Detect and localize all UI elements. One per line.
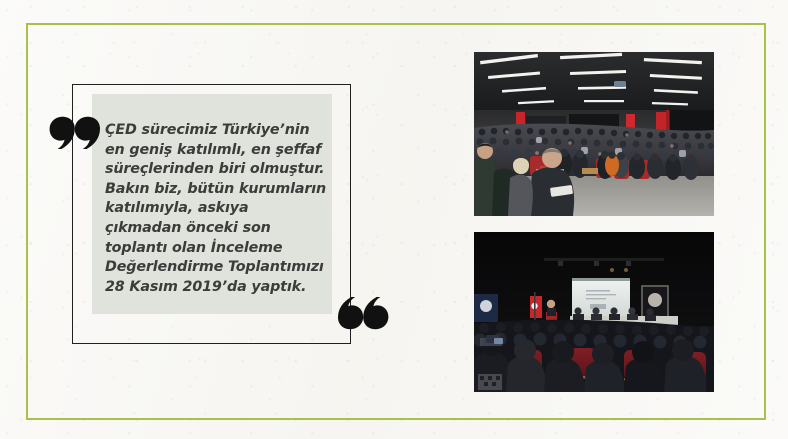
photo-conference-hall-audience <box>474 52 714 216</box>
quote-open-icon <box>49 116 101 155</box>
slide-canvas: ÇED sürecimiz Türkiye’nin en geniş katıl… <box>0 0 788 439</box>
quote-block: ÇED sürecimiz Türkiye’nin en geniş katıl… <box>72 84 351 344</box>
photo-auditorium-presentation <box>474 232 714 392</box>
quote-close-icon <box>337 296 389 335</box>
quote-text: ÇED sürecimiz Türkiye’nin en geniş katıl… <box>105 121 327 297</box>
